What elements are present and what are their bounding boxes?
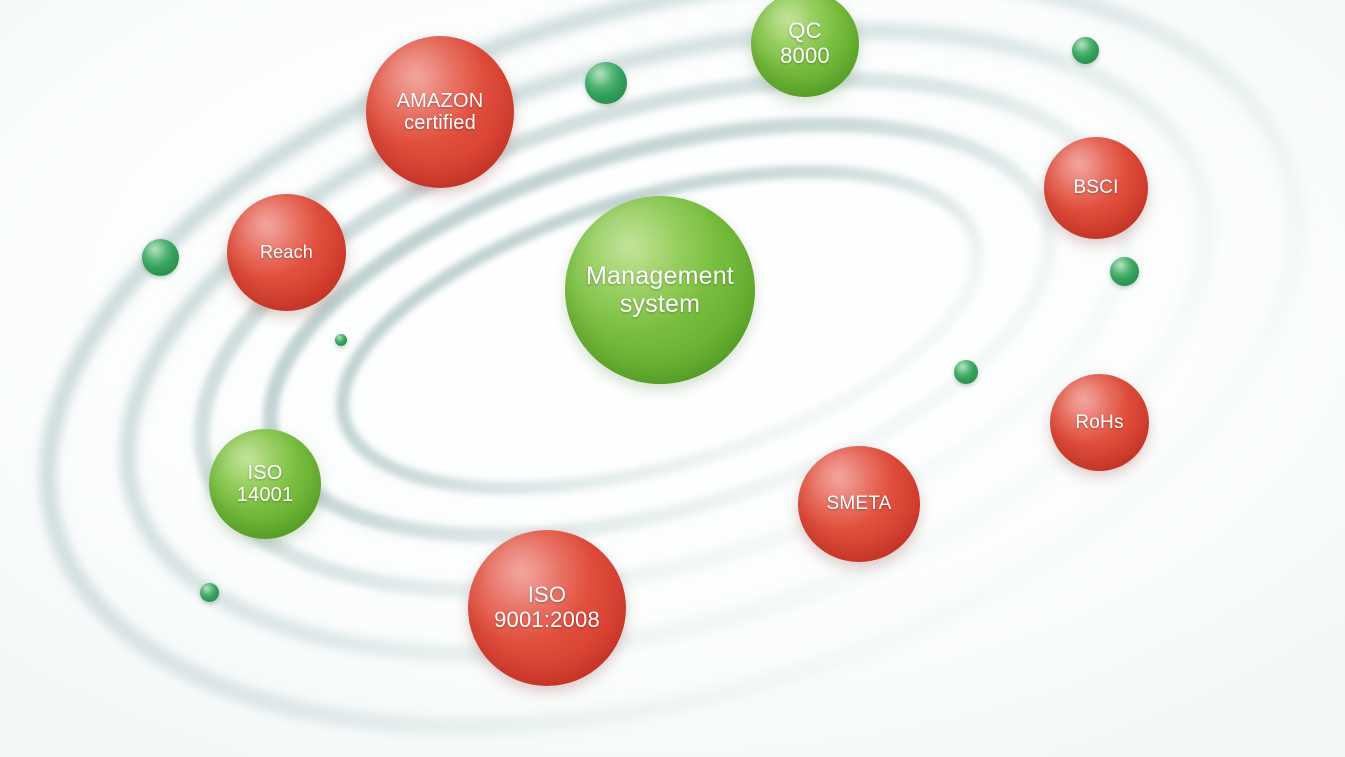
satellite-dot — [585, 62, 627, 104]
node-amazon-certified[interactable]: AMAZON certified — [366, 36, 514, 188]
node-smeta[interactable]: SMETA — [798, 446, 920, 562]
node-rohs[interactable]: RoHs — [1050, 374, 1149, 471]
node-label-line: AMAZON — [397, 90, 484, 112]
node-label-line: 8000 — [780, 44, 830, 69]
satellite-dot — [1110, 257, 1139, 286]
diagram-canvas: Management system AMAZON certified QC 80… — [0, 0, 1345, 757]
node-label-line: 14001 — [237, 484, 294, 506]
node-label-line: RoHs — [1075, 412, 1123, 433]
satellite-dot — [1072, 37, 1099, 64]
satellite-dot — [200, 583, 219, 602]
node-label-line: 9001:2008 — [494, 608, 600, 633]
node-bsci[interactable]: BSCI — [1044, 137, 1148, 239]
node-label-line: ISO — [247, 462, 282, 484]
node-management-system[interactable]: Management system — [565, 196, 755, 384]
satellite-dot — [142, 239, 179, 276]
node-label-line: SMETA — [826, 493, 891, 514]
node-iso-9001-2008[interactable]: ISO 9001:2008 — [468, 530, 626, 686]
satellite-dot — [954, 360, 978, 384]
satellite-dot — [335, 334, 347, 346]
node-label-line: system — [620, 290, 700, 318]
node-reach[interactable]: Reach — [227, 194, 346, 311]
node-label-line: Management — [586, 262, 734, 290]
node-iso-14001[interactable]: ISO 14001 — [209, 429, 321, 539]
node-label-line: ISO — [528, 583, 567, 608]
node-label-line: Reach — [260, 242, 313, 262]
node-label-line: certified — [404, 112, 476, 134]
node-label-line: BSCI — [1073, 177, 1118, 198]
node-label-line: QC — [788, 19, 821, 44]
